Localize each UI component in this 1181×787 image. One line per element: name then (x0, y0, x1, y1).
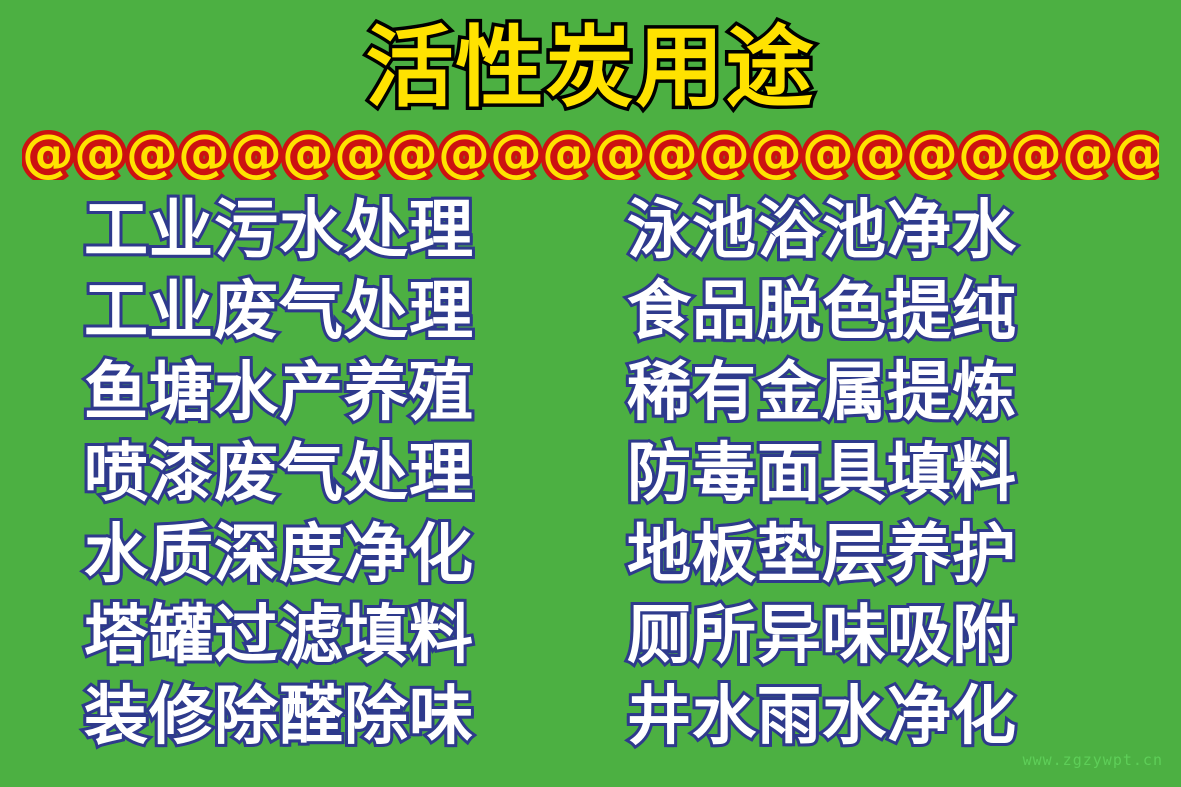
watermark-url: www.zgzywpt.cn (1023, 751, 1163, 769)
at-symbol-icon: @ (1114, 128, 1159, 180)
at-symbol-icon: @ (230, 128, 282, 180)
usage-item-label: 塔罐过滤填料 (84, 604, 474, 668)
list-cell-left: 工业污水处理 (0, 199, 575, 263)
list-cell-right: 稀有金属提炼 (575, 361, 1181, 425)
at-symbol-icon: @ (438, 128, 490, 180)
at-symbol-icon: @ (750, 128, 802, 180)
list-row: 鱼塘水产养殖稀有金属提炼 (0, 352, 1181, 433)
list-cell-left: 喷漆废气处理 (0, 442, 575, 506)
decorative-at-divider: @@@@@@@@@@@@@@@@@@@@@@@@@@ (22, 128, 1159, 180)
list-row: 装修除醛除味井水雨水净化 (0, 676, 1181, 757)
at-symbol-icon: @ (74, 128, 126, 180)
list-row: 工业污水处理泳池浴池净水 (0, 190, 1181, 271)
at-symbol-icon: @ (802, 128, 854, 180)
usage-item-label: 工业污水处理 (84, 199, 474, 263)
list-cell-right: 厕所异味吸附 (575, 604, 1181, 668)
at-symbol-icon: @ (386, 128, 438, 180)
list-row: 塔罐过滤填料厕所异味吸附 (0, 595, 1181, 676)
at-symbol-icon: @ (1010, 128, 1062, 180)
poster-canvas: 活性炭用途 @@@@@@@@@@@@@@@@@@@@@@@@@@ 工业污水处理泳… (0, 0, 1181, 787)
at-symbol-icon: @ (490, 128, 542, 180)
list-row: 工业废气处理食品脱色提纯 (0, 271, 1181, 352)
at-symbol-icon: @ (22, 128, 74, 180)
list-cell-left: 水质深度净化 (0, 523, 575, 587)
list-cell-right: 食品脱色提纯 (575, 280, 1181, 344)
usage-item-label: 防毒面具填料 (627, 442, 1017, 506)
usage-item-label: 喷漆废气处理 (84, 442, 474, 506)
list-cell-left: 工业废气处理 (0, 280, 575, 344)
at-symbol-icon: @ (178, 128, 230, 180)
list-row: 喷漆废气处理防毒面具填料 (0, 433, 1181, 514)
list-cell-right: 井水雨水净化 (575, 685, 1181, 749)
at-symbol-icon: @ (854, 128, 906, 180)
at-symbol-icon: @ (126, 128, 178, 180)
at-symbol-icon: @ (594, 128, 646, 180)
usage-item-label: 厕所异味吸附 (627, 604, 1017, 668)
usage-item-label: 泳池浴池净水 (627, 199, 1017, 263)
usage-item-label: 水质深度净化 (84, 523, 474, 587)
at-symbol-icon: @ (282, 128, 334, 180)
title-banner: 活性炭用途 (0, 14, 1181, 122)
usage-item-label: 食品脱色提纯 (627, 280, 1017, 344)
at-symbol-icon: @ (1062, 128, 1114, 180)
usage-item-label: 工业废气处理 (84, 280, 474, 344)
list-cell-right: 泳池浴池净水 (575, 199, 1181, 263)
usage-item-label: 鱼塘水产养殖 (84, 361, 474, 425)
at-symbol-icon: @ (958, 128, 1010, 180)
at-symbol-icon: @ (698, 128, 750, 180)
page-title: 活性炭用途 (365, 24, 815, 112)
list-cell-left: 装修除醛除味 (0, 685, 575, 749)
list-cell-left: 鱼塘水产养殖 (0, 361, 575, 425)
list-cell-right: 地板垫层养护 (575, 523, 1181, 587)
usage-item-label: 装修除醛除味 (84, 685, 474, 749)
list-cell-left: 塔罐过滤填料 (0, 604, 575, 668)
usage-list: 工业污水处理泳池浴池净水工业废气处理食品脱色提纯鱼塘水产养殖稀有金属提炼喷漆废气… (0, 190, 1181, 760)
at-symbol-icon: @ (646, 128, 698, 180)
list-row: 水质深度净化地板垫层养护 (0, 514, 1181, 595)
usage-item-label: 井水雨水净化 (627, 685, 1017, 749)
usage-item-label: 稀有金属提炼 (627, 361, 1017, 425)
at-symbol-icon: @ (542, 128, 594, 180)
list-cell-right: 防毒面具填料 (575, 442, 1181, 506)
at-symbol-icon: @ (906, 128, 958, 180)
at-symbol-icon: @ (334, 128, 386, 180)
usage-item-label: 地板垫层养护 (627, 523, 1017, 587)
